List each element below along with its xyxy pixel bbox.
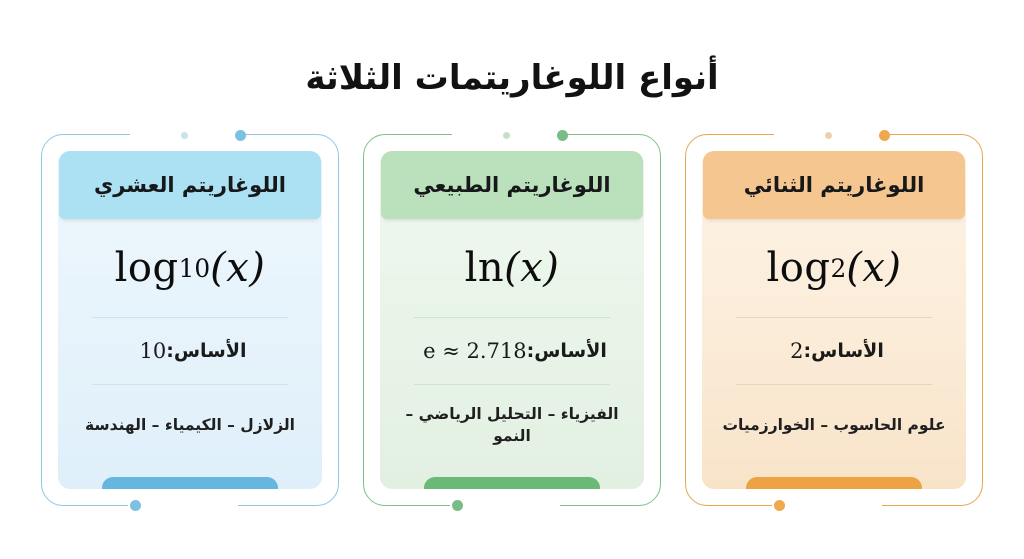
- card-header-label: اللوغاريتم العشري: [88, 172, 292, 198]
- card-base-value: 10: [139, 339, 166, 363]
- card-applications: علوم الحاسوب – الخوارزميات: [702, 385, 966, 489]
- card-formula: log2(x): [702, 219, 966, 317]
- card-shell: اللوغاريتم الطبيعي ln(x) الأساس: e ≈ 2.7…: [372, 143, 652, 497]
- card-base-row: الأساس: e ≈ 2.718: [380, 318, 644, 384]
- card-body: اللوغاريتم العشري log10(x) الأساس: 10 ال…: [58, 151, 322, 489]
- card-base-row: الأساس: 2: [702, 318, 966, 384]
- formula-argument: (x): [210, 245, 265, 291]
- card-base-value: e ≈ 2.718: [423, 339, 527, 363]
- frame-gap-bottom: [772, 503, 882, 509]
- formula-argument: (x): [504, 245, 559, 291]
- card-base-label: الأساس:: [804, 340, 884, 362]
- frame-dot-bottom-icon: [130, 500, 141, 511]
- card-footer-bar: [746, 477, 922, 489]
- infographic-page: أنواع اللوغاريتمات الثلاثة اللوغاريتم ال…: [0, 0, 1024, 559]
- card-formula: log10(x): [58, 219, 322, 317]
- card-shell: اللوغاريتم الثنائي log2(x) الأساس: 2 علو…: [694, 143, 974, 497]
- page-title: أنواع اللوغاريتمات الثلاثة: [0, 56, 1024, 100]
- frame-gap-bottom: [450, 503, 560, 509]
- frame-dot-bottom-icon: [774, 500, 785, 511]
- card-decimal-logarithm[interactable]: اللوغاريتم العشري log10(x) الأساس: 10 ال…: [41, 134, 339, 506]
- card-base-label: الأساس:: [166, 340, 246, 362]
- card-header: اللوغاريتم العشري: [59, 151, 321, 219]
- card-applications: الفيزياء – التحليل الرياضي – النمو: [380, 385, 644, 489]
- card-base-row: الأساس: 10: [58, 318, 322, 384]
- formula-function: log: [766, 245, 830, 291]
- card-footer-bar: [424, 477, 600, 489]
- card-shell: اللوغاريتم العشري log10(x) الأساس: 10 ال…: [50, 143, 330, 497]
- card-footer-bar: [102, 477, 278, 489]
- card-base-value: 2: [790, 339, 803, 363]
- card-formula: ln(x): [380, 219, 644, 317]
- formula-function: log: [115, 245, 179, 291]
- frame-dot-top-small-icon: [181, 132, 188, 139]
- card-binary-logarithm[interactable]: اللوغاريتم الثنائي log2(x) الأساس: 2 علو…: [685, 134, 983, 506]
- formula-subscript: 10: [179, 254, 211, 283]
- frame-dot-bottom-icon: [452, 500, 463, 511]
- formula-subscript: 2: [830, 254, 846, 283]
- frame-dot-top-large-icon: [879, 130, 890, 141]
- card-header-label: اللوغاريتم الطبيعي: [407, 172, 616, 198]
- frame-gap-bottom: [128, 503, 238, 509]
- card-header: اللوغاريتم الطبيعي: [381, 151, 643, 219]
- logarithm-cards-row: اللوغاريتم الثنائي log2(x) الأساس: 2 علو…: [0, 134, 1024, 514]
- card-header-label: اللوغاريتم الثنائي: [738, 172, 931, 198]
- card-header: اللوغاريتم الثنائي: [703, 151, 965, 219]
- card-body: اللوغاريتم الطبيعي ln(x) الأساس: e ≈ 2.7…: [380, 151, 644, 489]
- formula-argument: (x): [846, 245, 901, 291]
- card-base-label: الأساس:: [527, 340, 607, 362]
- card-body: اللوغاريتم الثنائي log2(x) الأساس: 2 علو…: [702, 151, 966, 489]
- formula-function: ln: [465, 245, 505, 291]
- card-natural-logarithm[interactable]: اللوغاريتم الطبيعي ln(x) الأساس: e ≈ 2.7…: [363, 134, 661, 506]
- frame-dot-top-small-icon: [825, 132, 832, 139]
- frame-dot-top-large-icon: [235, 130, 246, 141]
- card-applications: الزلازل – الكيمياء – الهندسة: [58, 385, 322, 489]
- frame-dot-top-large-icon: [557, 130, 568, 141]
- frame-dot-top-small-icon: [503, 132, 510, 139]
